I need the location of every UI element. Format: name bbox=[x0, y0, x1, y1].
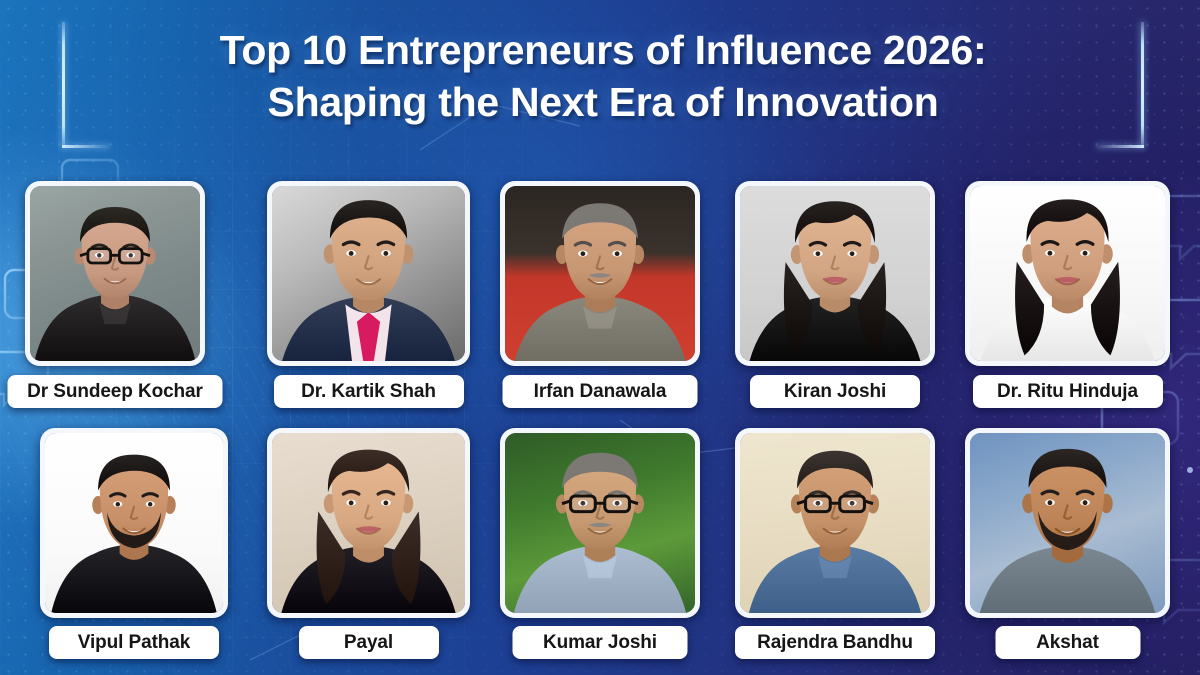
person-name-label: Akshat bbox=[995, 626, 1140, 659]
poster-canvas: Top 10 Entrepreneurs of Influence 2026: … bbox=[0, 0, 1200, 675]
person-name-label: Dr. Kartik Shah bbox=[274, 375, 464, 408]
person-card[interactable] bbox=[267, 428, 470, 618]
person-photo bbox=[970, 433, 1165, 613]
person-photo bbox=[740, 186, 930, 361]
entrepreneurs-grid: Dr Sundeep Kochar Dr. Kartik Shah bbox=[0, 0, 1200, 675]
person-card[interactable] bbox=[500, 181, 700, 366]
person-card[interactable] bbox=[735, 428, 935, 618]
photo-frame bbox=[965, 428, 1170, 618]
person-name-label: Irfan Danawala bbox=[503, 375, 698, 408]
person-card[interactable] bbox=[500, 428, 700, 618]
photo-frame bbox=[500, 181, 700, 366]
person-name-label: Rajendra Bandhu bbox=[735, 626, 935, 659]
person-card[interactable] bbox=[40, 428, 228, 618]
person-photo bbox=[45, 433, 223, 613]
person-name-label: Payal bbox=[299, 626, 439, 659]
person-photo bbox=[505, 433, 695, 613]
person-photo bbox=[272, 433, 465, 613]
photo-frame bbox=[500, 428, 700, 618]
photo-frame bbox=[965, 181, 1170, 366]
person-photo bbox=[272, 186, 465, 361]
person-card[interactable] bbox=[965, 428, 1170, 618]
person-name-label: Dr Sundeep Kochar bbox=[8, 375, 223, 408]
person-name-label: Vipul Pathak bbox=[49, 626, 219, 659]
person-card[interactable] bbox=[965, 181, 1170, 366]
person-name-label: Kumar Joshi bbox=[513, 626, 688, 659]
photo-frame bbox=[735, 181, 935, 366]
photo-frame bbox=[25, 181, 205, 366]
person-card[interactable] bbox=[267, 181, 470, 366]
person-name-label: Kiran Joshi bbox=[750, 375, 920, 408]
person-photo bbox=[740, 433, 930, 613]
person-photo bbox=[30, 186, 200, 361]
person-card[interactable] bbox=[25, 181, 205, 366]
person-card[interactable] bbox=[735, 181, 935, 366]
person-photo bbox=[970, 186, 1165, 361]
person-name-label: Dr. Ritu Hinduja bbox=[973, 375, 1163, 408]
person-photo bbox=[505, 186, 695, 361]
photo-frame bbox=[267, 428, 470, 618]
photo-frame bbox=[267, 181, 470, 366]
photo-frame bbox=[40, 428, 228, 618]
photo-frame bbox=[735, 428, 935, 618]
